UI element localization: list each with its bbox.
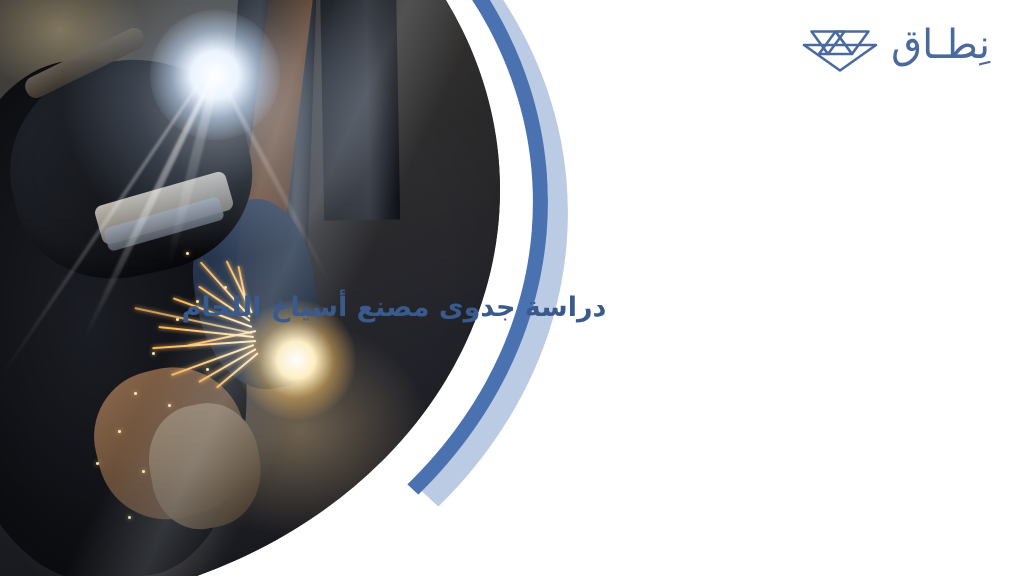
- page-title: دراسة جدوى مصنع أسياخ اللحام: [0, 290, 1024, 326]
- logo-wordmark: نِطـاق: [891, 25, 990, 65]
- welding-photo: [0, 0, 520, 576]
- welding-photo-image: [0, 0, 520, 576]
- interlocking-triangles-mark-icon: [801, 16, 879, 74]
- cover-slide: نِطـاق دراسة جدوى مصنع أسياخ اللحام: [0, 0, 1024, 576]
- photo-vignette: [0, 0, 520, 576]
- brand-logo: نِطـاق: [801, 16, 990, 74]
